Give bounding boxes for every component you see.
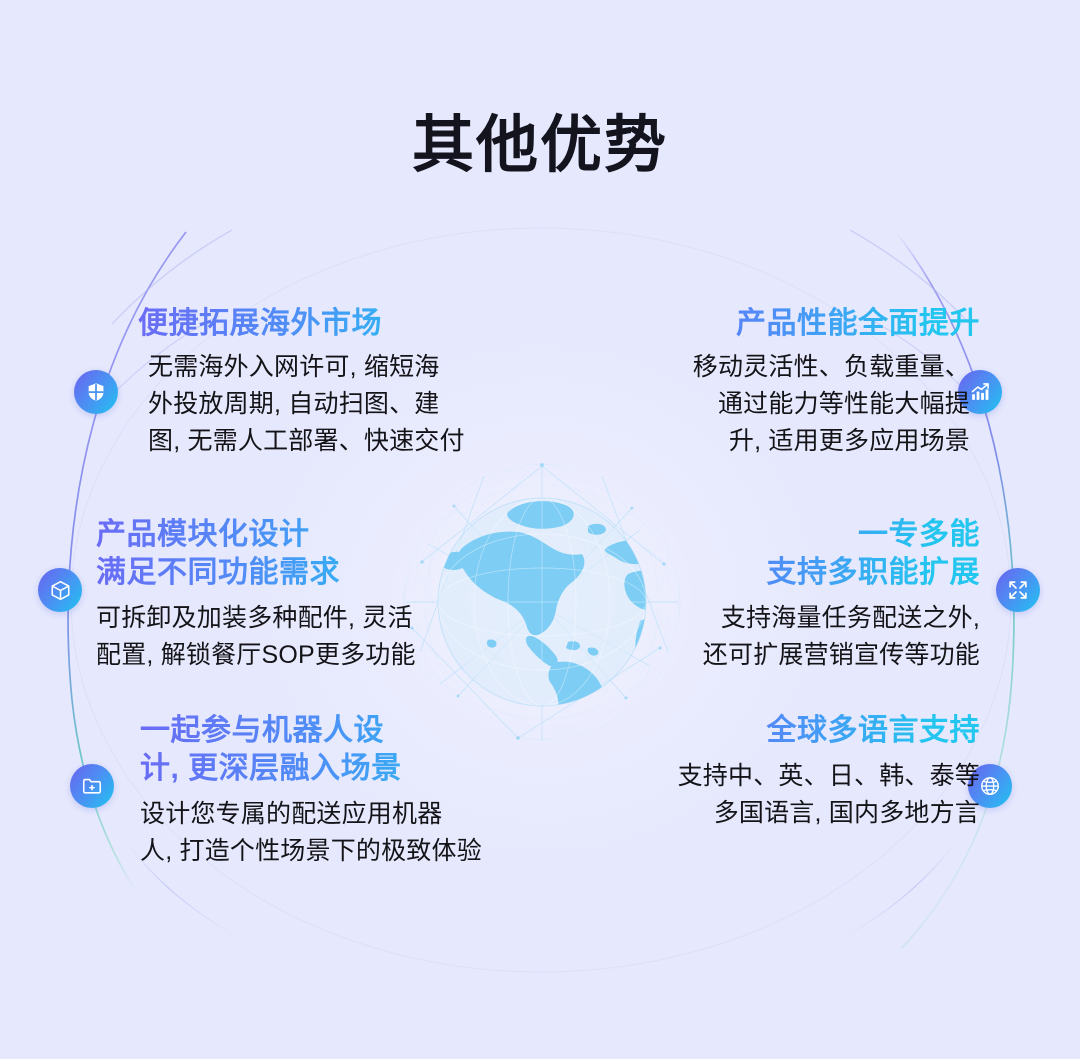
- feature-body: 支持中、英、日、韩、泰等 多国语言, 国内多地方言: [640, 758, 980, 832]
- feature-heading: 全球多语言支持: [640, 712, 980, 750]
- feature-heading: 便捷拓展海外市场: [138, 305, 498, 343]
- feature-heading: 一起参与机器人设 计, 更深层融入场景: [140, 712, 552, 788]
- feature-body: 移动灵活性、负载重量、 通过能力等性能大幅提 升, 适用更多应用场景: [620, 349, 980, 460]
- feature-modular-design: 产品模块化设计 满足不同功能需求 可拆卸及加装多种配件, 灵活 配置, 解锁餐厅…: [96, 516, 468, 674]
- feature-multi-function: 一专多能 支持多职能扩展 支持海量任务配送之外, 还可扩展营销宣传等功能: [628, 516, 980, 674]
- feature-body: 可拆卸及加装多种配件, 灵活 配置, 解锁餐厅SOP更多功能: [96, 600, 468, 674]
- feature-co-design: 一起参与机器人设 计, 更深层融入场景 设计您专属的配送应用机器 人, 打造个性…: [140, 712, 552, 870]
- feature-body: 无需海外入网许可, 缩短海 外投放周期, 自动扫图、建 图, 无需人工部署、快速…: [138, 349, 498, 460]
- folder-plus-icon: [70, 764, 114, 808]
- feature-heading: 一专多能 支持多职能扩展: [628, 516, 980, 592]
- infographic-stage: 其他优势: [0, 0, 1080, 1059]
- feature-product-performance: 产品性能全面提升 移动灵活性、负载重量、 通过能力等性能大幅提 升, 适用更多应…: [620, 305, 980, 460]
- feature-heading: 产品模块化设计 满足不同功能需求: [96, 516, 468, 592]
- feature-heading: 产品性能全面提升: [620, 305, 980, 343]
- shield-icon: [74, 370, 118, 414]
- expand-arrows-icon: [996, 568, 1040, 612]
- feature-multi-language: 全球多语言支持 支持中、英、日、韩、泰等 多国语言, 国内多地方言: [640, 712, 980, 832]
- feature-body: 设计您专属的配送应用机器 人, 打造个性场景下的极致体验: [140, 796, 552, 870]
- feature-body: 支持海量任务配送之外, 还可扩展营销宣传等功能: [628, 600, 980, 674]
- page-title: 其他优势: [0, 108, 1080, 184]
- cube-icon: [38, 568, 82, 612]
- feature-overseas-market: 便捷拓展海外市场 无需海外入网许可, 缩短海 外投放周期, 自动扫图、建 图, …: [138, 305, 498, 460]
